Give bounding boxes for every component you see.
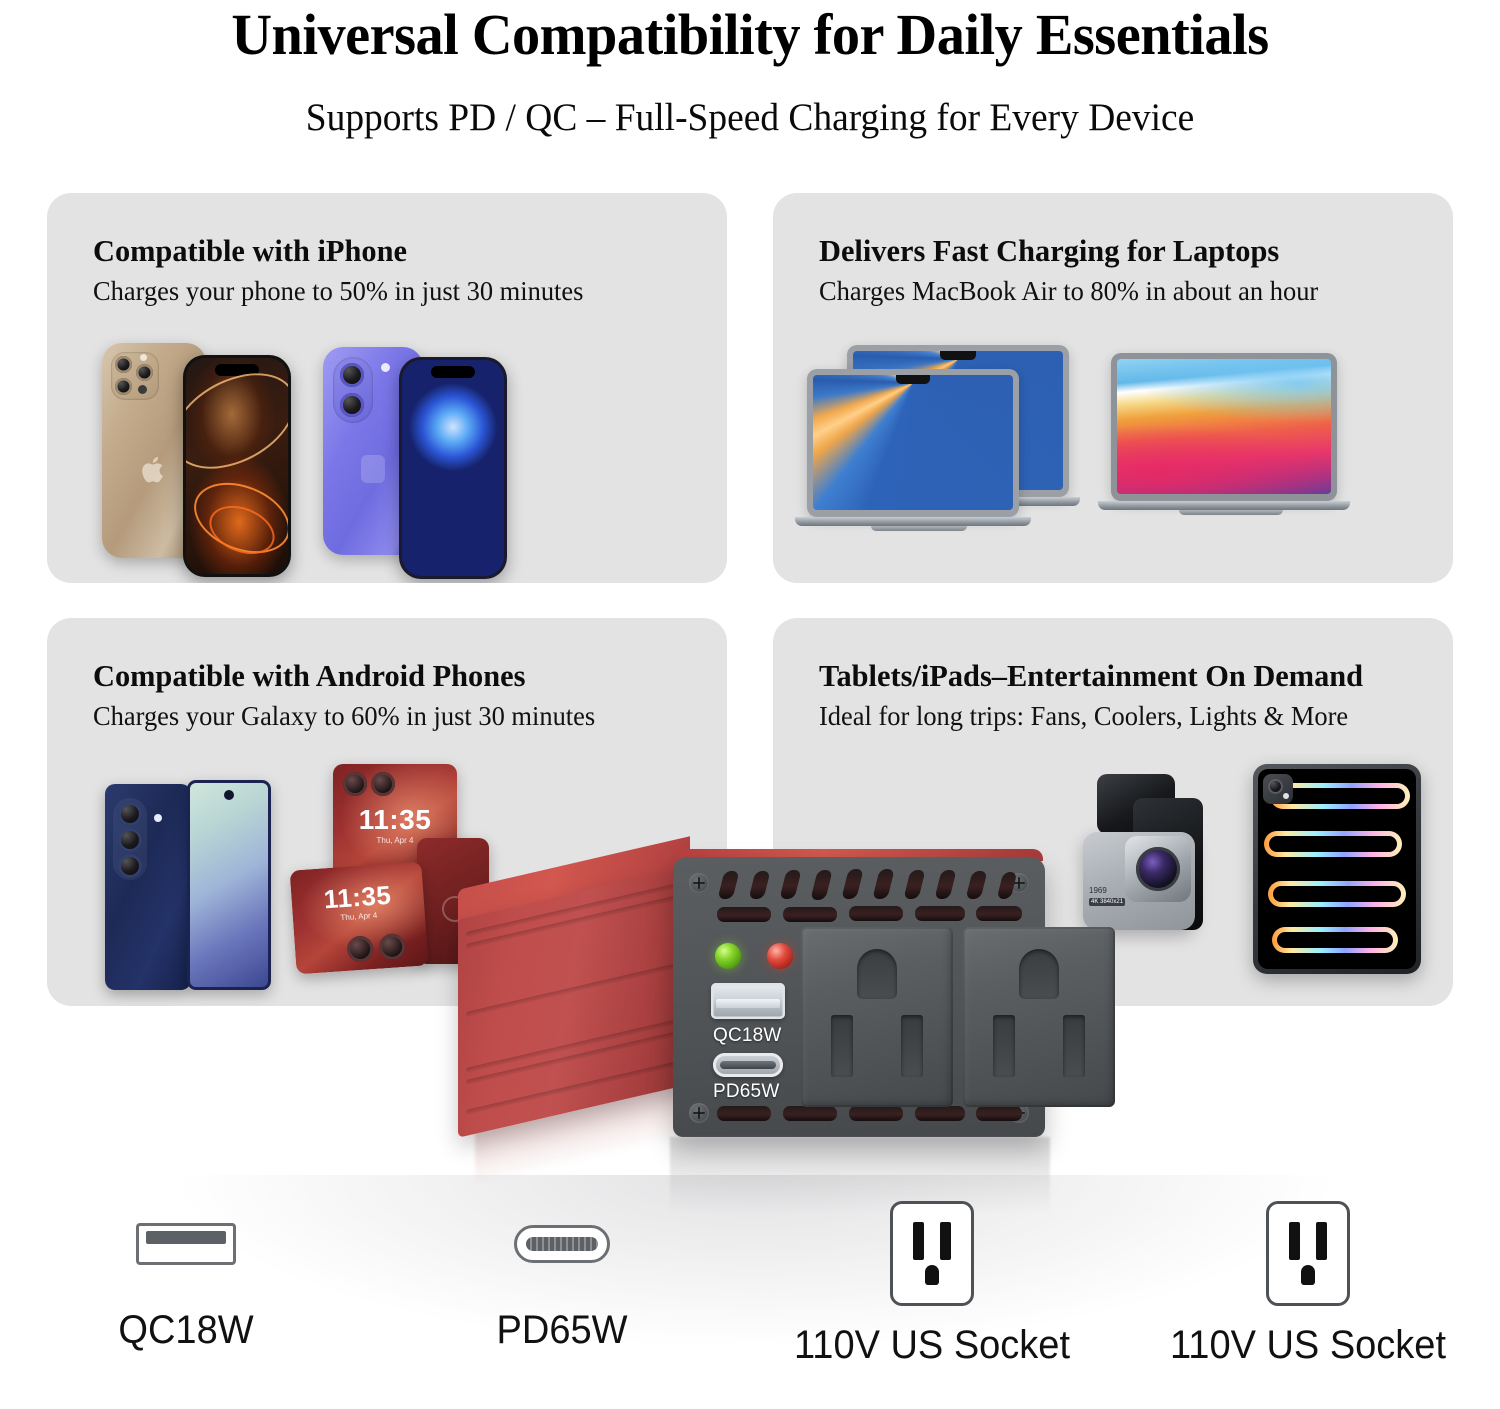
led-indicator-red [767, 943, 793, 969]
us-socket-icon [890, 1201, 974, 1306]
led-indicator-green [715, 943, 741, 969]
laptop-screen [1117, 359, 1331, 494]
camera-lens [343, 772, 367, 796]
card-tablets-subheading: Ideal for long trips: Fans, Coolers, Lig… [819, 700, 1348, 732]
macbook-pro [1111, 353, 1350, 515]
razr-flip-half-open: 11:35 Thu, Apr 4 [290, 862, 429, 975]
camera-lens [118, 802, 142, 826]
legend-item-socket-1: 110V US Socket [782, 1201, 1082, 1368]
outlet-ground-slot [1019, 949, 1059, 999]
card-iphone-artwork [47, 321, 727, 583]
galaxy-fold-back [105, 784, 191, 990]
page-subtitle: Supports PD / QC – Full-Speed Charging f… [30, 96, 1470, 140]
lidar-sensor [138, 385, 147, 394]
usb-a-port[interactable] [711, 983, 785, 1019]
outlet-slot [901, 1015, 923, 1077]
usb-a-icon [136, 1223, 236, 1265]
flash-icon [1283, 793, 1289, 799]
legend-item-socket-2: 110V US Socket [1158, 1201, 1458, 1368]
apple-logo-icon [361, 455, 385, 483]
power-inverter-product: QC18W PD65W [455, 845, 1095, 1175]
page-title: Universal Compatibility for Daily Essent… [23, 4, 1478, 66]
card-android-subheading: Charges your Galaxy to 60% in just 30 mi… [93, 700, 595, 732]
punch-hole-camera [224, 790, 234, 800]
legend-item-usb-c: PD65W [412, 1225, 712, 1353]
apple-logo-icon [141, 455, 167, 485]
card-iphone-subheading: Charges your phone to 50% in just 30 min… [93, 275, 583, 307]
usb-a-port-label: QC18W [713, 1025, 782, 1047]
galaxy-fold-front [187, 780, 271, 990]
screw-icon [689, 1103, 709, 1123]
legend-item-usb-a: QC18W [36, 1223, 336, 1353]
iphone-screen [186, 358, 288, 574]
us-socket-icon [1266, 1201, 1350, 1306]
iphone-screen [402, 360, 504, 576]
outlet-slot [1063, 1015, 1085, 1077]
card-iphone: Compatible with iPhone Charges your phon… [47, 193, 727, 583]
card-laptops-subheading: Charges MacBook Air to 80% in about an h… [819, 275, 1318, 307]
camera-lens [340, 363, 364, 387]
camera-lens [115, 378, 132, 395]
port-legend: QC18W PD65W 110V US Socket 110V US Socke… [0, 1195, 1500, 1395]
outlet-slot [831, 1015, 853, 1077]
legend-label-socket-2: 110V US Socket [1166, 1322, 1451, 1368]
ipad-pro [1253, 764, 1421, 974]
outlet-slot [993, 1015, 1015, 1077]
iphone-pro-gold-front [183, 355, 291, 577]
usb-c-port[interactable] [713, 1053, 783, 1077]
macbook-air-front [807, 369, 1031, 531]
phone-screen [190, 783, 268, 987]
razr-clock-time: 11:35 [333, 804, 457, 836]
camera-lens [371, 772, 395, 796]
card-laptops-heading: Delivers Fast Charging for Laptops [819, 233, 1279, 269]
card-iphone-heading: Compatible with iPhone [93, 233, 407, 269]
dashcam-lens [1136, 847, 1180, 891]
usb-c-port-label: PD65W [713, 1081, 779, 1103]
card-laptops: Delivers Fast Charging for Laptops Charg… [773, 193, 1453, 583]
camera-island [1263, 774, 1293, 804]
legend-label-socket-1: 110V US Socket [790, 1322, 1075, 1368]
legend-label-usb-c: PD65W [420, 1307, 705, 1353]
camera-island [113, 798, 147, 880]
webcam-notch [896, 375, 930, 384]
camera-lens [118, 854, 142, 878]
legend-label-usb-a: QC18W [44, 1307, 329, 1353]
ac-outlet[interactable] [963, 927, 1115, 1107]
flash-icon [140, 354, 147, 361]
camera-island [111, 352, 159, 400]
dashcam-lens-ring [1125, 836, 1191, 902]
camera-lens [118, 828, 142, 852]
camera-island [333, 357, 373, 423]
camera-lens [1268, 779, 1283, 794]
infographic-page: Universal Compatibility for Daily Essent… [0, 0, 1500, 1409]
ac-outlet[interactable] [801, 927, 953, 1107]
laptop-screen [813, 375, 1013, 510]
card-laptops-artwork [773, 321, 1453, 583]
camera-lens [136, 364, 153, 381]
flash-icon [154, 814, 162, 822]
inverter-front-panel: QC18W PD65W [673, 857, 1045, 1137]
iphone-blue-front [399, 357, 507, 579]
flash-icon [381, 363, 390, 372]
screw-icon [689, 873, 709, 893]
card-android-heading: Compatible with Android Phones [93, 658, 525, 694]
webcam-notch [940, 351, 976, 360]
camera-lens [340, 393, 364, 417]
outlet-ground-slot [857, 949, 897, 999]
usb-c-icon [514, 1225, 610, 1263]
dynamic-island [431, 366, 475, 378]
camera-lens [115, 356, 132, 373]
card-tablets-heading: Tablets/iPads–Entertainment On Demand [819, 658, 1363, 694]
